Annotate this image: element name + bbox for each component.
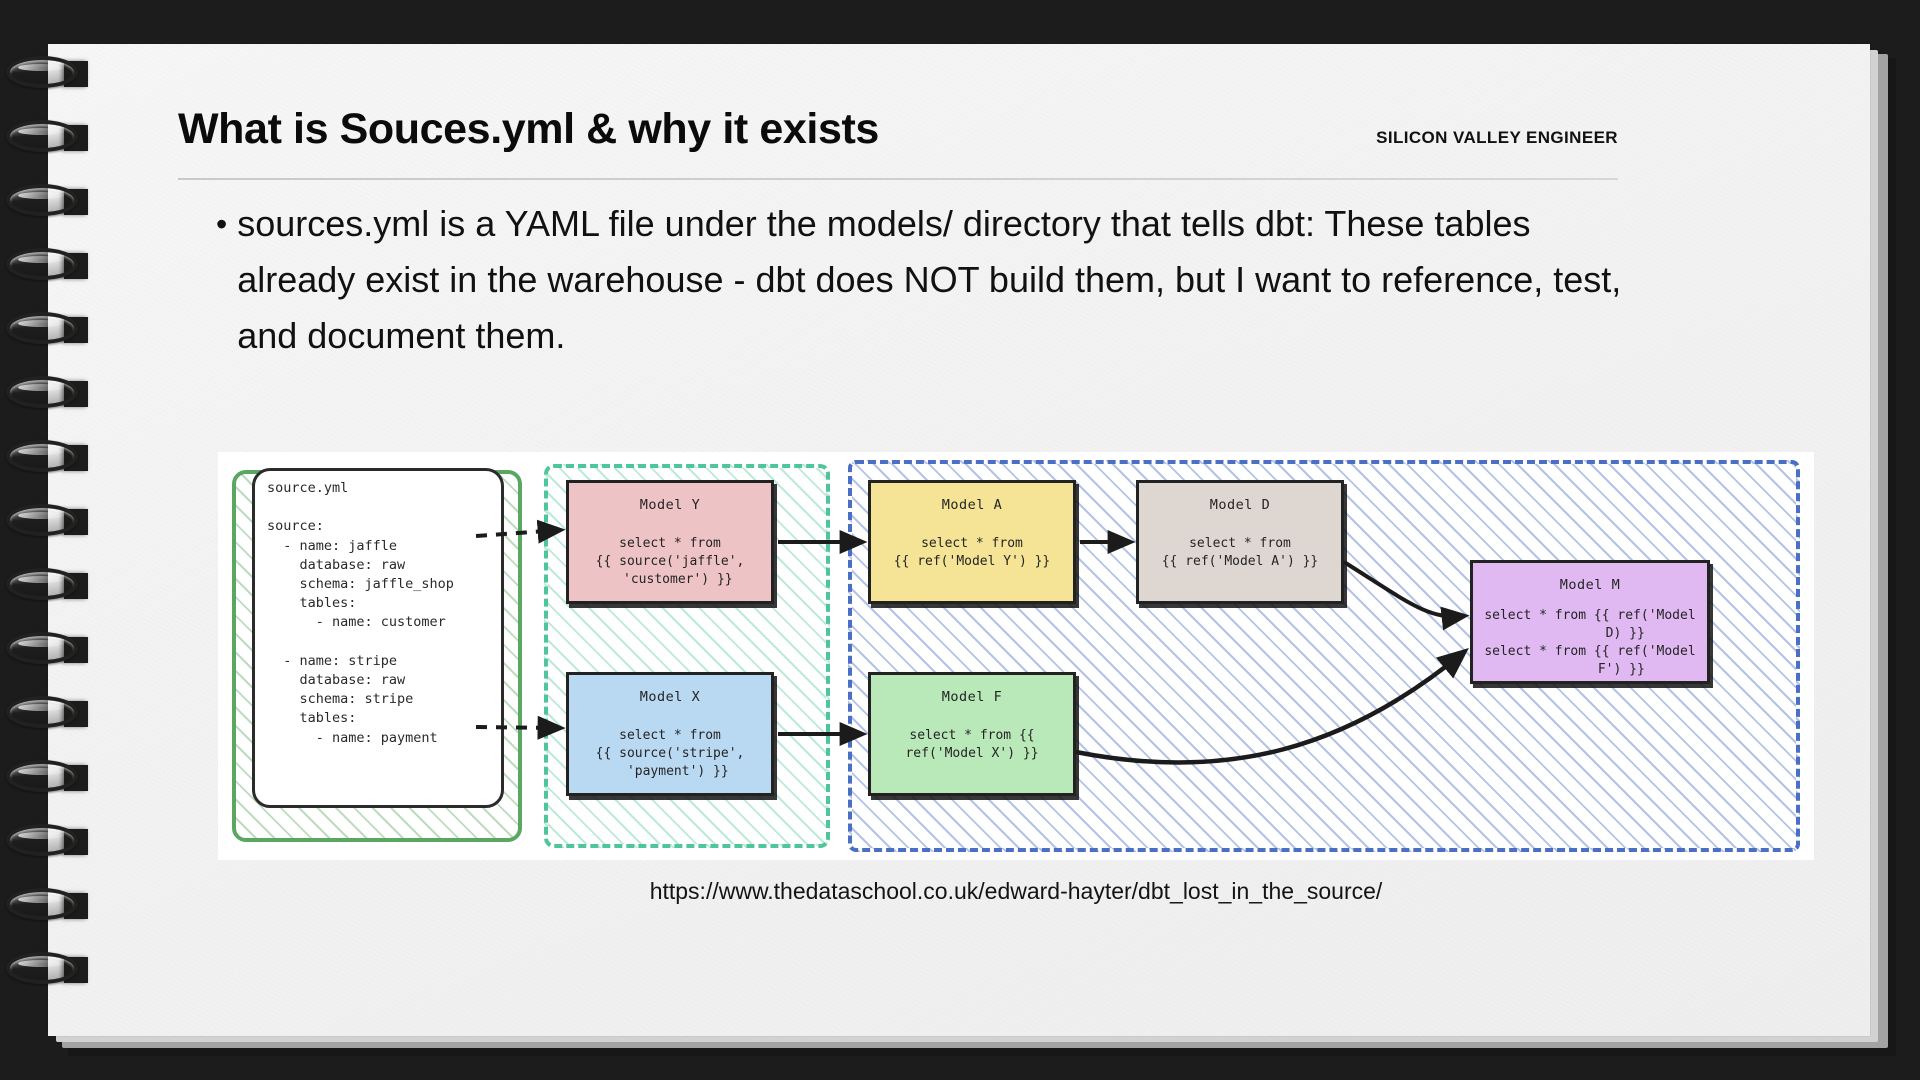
binding-ring-highlight: [18, 256, 64, 263]
model-m-title: Model M: [1560, 577, 1620, 593]
model-x-box: Model X select * from {{ source('stripe'…: [566, 672, 774, 796]
model-f-box: Model F select * from {{ ref('Model X') …: [868, 672, 1076, 796]
binding-ring-loop: [6, 696, 78, 728]
binding-ring-highlight: [18, 576, 64, 583]
binding-ring-highlight: [18, 384, 64, 391]
bullet-item: • sources.yml is a YAML file under the m…: [216, 196, 1636, 364]
model-x-sql: select * from {{ source('stripe', 'payme…: [596, 727, 745, 781]
model-y-sql: select * from {{ source('jaffle', 'custo…: [596, 535, 745, 589]
binding-ring: [6, 312, 88, 346]
binding-ring: [6, 824, 88, 858]
bullet-marker-icon: •: [216, 196, 227, 252]
binding-ring-loop: [6, 504, 78, 536]
slide-canvas: What is Souces.yml & why it exists SILIC…: [0, 0, 1920, 1080]
binding-ring-highlight: [18, 64, 64, 71]
model-a-title: Model A: [942, 497, 1002, 513]
binding-ring: [6, 120, 88, 154]
source-yml-code: source.yml source: - name: jaffle databa…: [267, 479, 489, 748]
binding-ring: [6, 696, 88, 730]
binding-ring-loop: [6, 824, 78, 856]
slide-header: What is Souces.yml & why it exists SILIC…: [178, 106, 1618, 153]
binding-ring-loop: [6, 376, 78, 408]
binding-ring-highlight: [18, 960, 64, 967]
bullet-text: sources.yml is a YAML file under the mod…: [237, 196, 1636, 364]
binding-ring-highlight: [18, 640, 64, 647]
model-a-box: Model A select * from {{ ref('Model Y') …: [868, 480, 1076, 604]
binding-ring-highlight: [18, 832, 64, 839]
binding-ring-highlight: [18, 192, 64, 199]
model-d-box: Model D select * from {{ ref('Model A') …: [1136, 480, 1344, 604]
model-f-sql: select * from {{ ref('Model X') }}: [905, 727, 1038, 763]
binding-ring-loop: [6, 760, 78, 792]
binding-ring-highlight: [18, 896, 64, 903]
binding-ring-loop: [6, 440, 78, 472]
binding-ring-highlight: [18, 512, 64, 519]
binding-ring-loop: [6, 632, 78, 664]
body-content: • sources.yml is a YAML file under the m…: [216, 196, 1636, 364]
model-a-sql: select * from {{ ref('Model Y') }}: [894, 535, 1051, 571]
brand-label: SILICON VALLEY ENGINEER: [1376, 128, 1618, 148]
binding-ring: [6, 760, 88, 794]
model-x-title: Model X: [640, 689, 700, 705]
model-d-sql: select * from {{ ref('Model A') }}: [1162, 535, 1319, 571]
source-yml-card: source.yml source: - name: jaffle databa…: [252, 468, 504, 808]
binding-ring: [6, 952, 88, 986]
binding-ring-highlight: [18, 704, 64, 711]
binding-ring-loop: [6, 184, 78, 216]
binding-ring: [6, 440, 88, 474]
dbt-lineage-diagram: source.yml source: - name: jaffle databa…: [218, 452, 1814, 860]
binding-ring-loop: [6, 248, 78, 280]
binding-ring: [6, 376, 88, 410]
binding-ring: [6, 568, 88, 602]
model-m-box: Model M select * from {{ ref('Model D) }…: [1470, 560, 1710, 684]
binding-ring-loop: [6, 312, 78, 344]
binding-ring-highlight: [18, 768, 64, 775]
model-f-title: Model F: [942, 689, 1002, 705]
model-m-sql: select * from {{ ref('Model D) }} select…: [1484, 607, 1695, 679]
binding-ring: [6, 248, 88, 282]
binding-ring-loop: [6, 888, 78, 920]
binding-ring-highlight: [18, 128, 64, 135]
model-y-box: Model Y select * from {{ source('jaffle'…: [566, 480, 774, 604]
binding-ring: [6, 632, 88, 666]
model-d-title: Model D: [1210, 497, 1270, 513]
binding-ring: [6, 184, 88, 218]
binding-ring-loop: [6, 120, 78, 152]
binding-ring-loop: [6, 952, 78, 984]
binding-ring-loop: [6, 56, 78, 88]
header-divider: [178, 178, 1618, 180]
page-title: What is Souces.yml & why it exists: [178, 106, 879, 153]
spiral-binding: [0, 44, 110, 1036]
binding-ring: [6, 56, 88, 90]
source-url-caption: https://www.thedataschool.co.uk/edward-h…: [218, 878, 1814, 905]
model-y-title: Model Y: [640, 497, 700, 513]
binding-ring-highlight: [18, 448, 64, 455]
binding-ring-loop: [6, 568, 78, 600]
binding-ring: [6, 888, 88, 922]
binding-ring-highlight: [18, 320, 64, 327]
binding-ring: [6, 504, 88, 538]
